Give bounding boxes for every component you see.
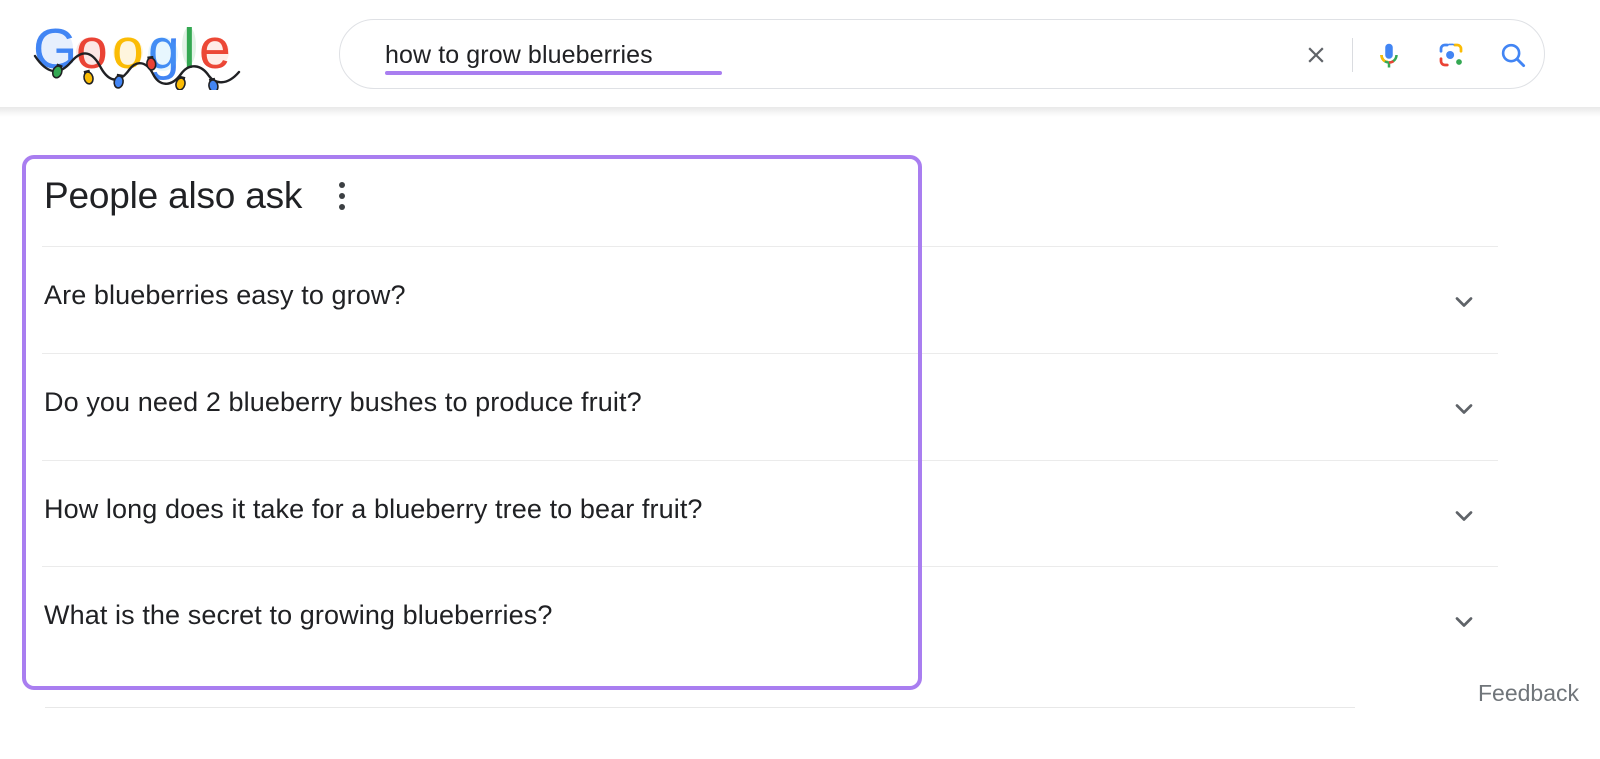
voice-search-button[interactable]	[1358, 20, 1420, 90]
chevron-down-icon[interactable]	[1449, 501, 1479, 531]
people-also-ask-header: People also ask	[44, 177, 353, 214]
lens-search-button[interactable]	[1420, 20, 1482, 90]
question-text: What is the secret to growing blueberrie…	[44, 599, 552, 631]
header-shadow	[0, 107, 1600, 117]
list-item[interactable]: How long does it take for a blueberry tr…	[42, 461, 1498, 567]
search-actions	[1285, 20, 1544, 90]
close-icon	[1303, 42, 1329, 68]
search-icon	[1498, 40, 1528, 70]
question-text: Are blueberries easy to grow?	[44, 279, 406, 311]
microphone-icon	[1374, 40, 1404, 70]
question-text: Do you need 2 blueberry bushes to produc…	[44, 386, 642, 418]
chevron-down-icon[interactable]	[1449, 394, 1479, 424]
page-header: G o o g l e	[0, 0, 1600, 107]
question-text: How long does it take for a blueberry tr…	[44, 493, 703, 525]
google-doodle-logo[interactable]: G o o g l e	[33, 18, 248, 90]
feedback-link[interactable]: Feedback	[1478, 680, 1579, 708]
search-submit-button[interactable]	[1482, 20, 1544, 90]
list-item[interactable]: What is the secret to growing blueberrie…	[42, 567, 1498, 673]
list-item[interactable]: Are blueberries easy to grow?	[42, 247, 1498, 353]
list-item[interactable]: Do you need 2 blueberry bushes to produc…	[42, 354, 1498, 460]
clear-search-button[interactable]	[1285, 20, 1347, 90]
search-query-text: how to grow blueberries	[385, 43, 653, 68]
search-actions-divider	[1352, 38, 1353, 72]
kebab-menu-icon[interactable]	[331, 179, 353, 213]
google-lens-icon	[1436, 40, 1466, 70]
search-input[interactable]: how to grow blueberries	[385, 20, 1185, 90]
chevron-down-icon[interactable]	[1449, 287, 1479, 317]
search-box[interactable]: how to grow blueberries	[339, 19, 1545, 89]
search-results-page: G o o g l e	[0, 0, 1600, 759]
page-title: People also ask	[44, 177, 302, 214]
divider	[45, 707, 1355, 708]
query-highlight-underline	[385, 71, 722, 75]
chevron-down-icon[interactable]	[1449, 607, 1479, 637]
